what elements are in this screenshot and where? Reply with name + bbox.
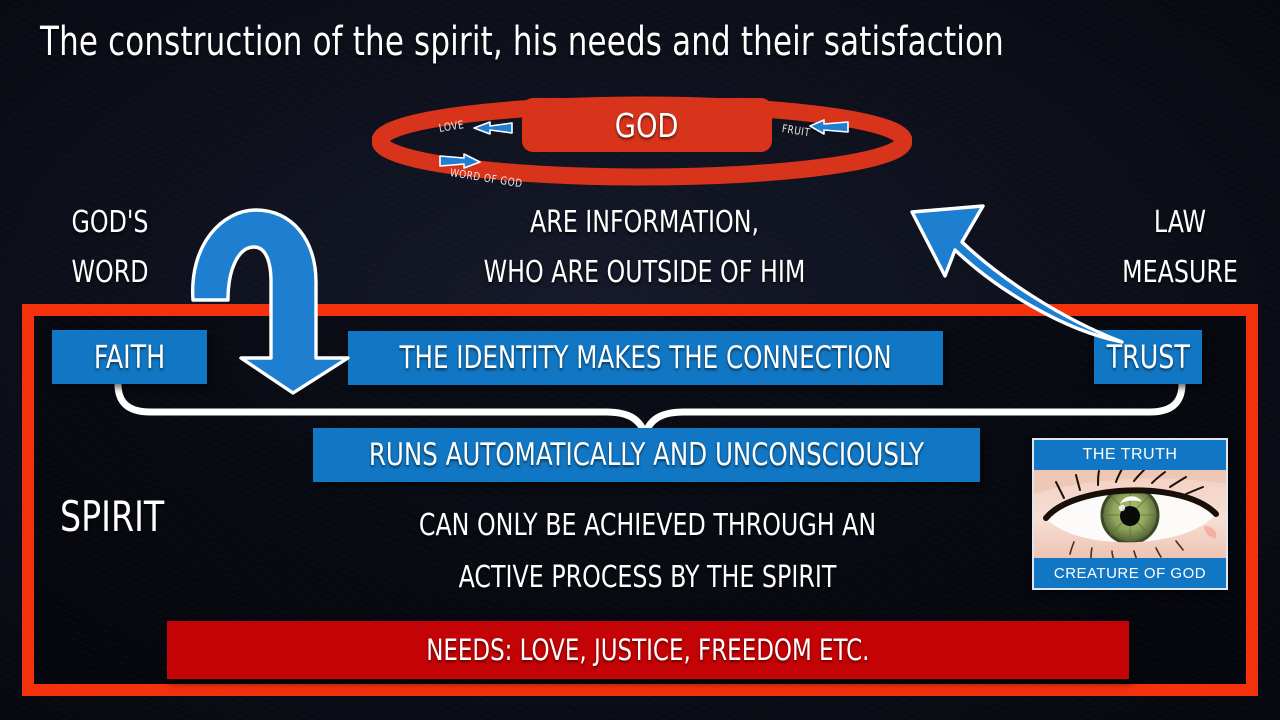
needs-bar: NEEDS: LOVE, JUSTICE, FREEDOM ETC. <box>167 621 1129 679</box>
caption-law-measure: LAW MEASURE <box>1105 198 1255 298</box>
caption-are-information: ARE INFORMATION, WHO ARE OUTSIDE OF HIM <box>414 198 876 298</box>
eye-photo <box>1034 468 1226 560</box>
eye-card-header-label: THE TRUTH <box>1083 446 1178 464</box>
trust-label: TRUST <box>1106 338 1189 376</box>
caption-gods-word: GOD'S WORD <box>44 198 176 298</box>
spirit-label: SPIRIT <box>60 492 164 541</box>
eye-card-header: THE TRUTH <box>1034 440 1226 470</box>
slide-canvas: The construction of the spirit, his need… <box>0 0 1280 720</box>
faith-label: FAITH <box>94 338 165 376</box>
needs-label: NEEDS: LOVE, JUSTICE, FREEDOM ETC. <box>426 633 869 667</box>
faith-box: FAITH <box>52 330 207 384</box>
eye-card-footer: CREATURE OF GOD <box>1034 558 1226 588</box>
trust-box: TRUST <box>1094 330 1202 384</box>
identity-box: THE IDENTITY MAKES THE CONNECTION <box>348 331 943 385</box>
runs-automatically-box: RUNS AUTOMATICALLY AND UNCONSCIOUSLY <box>313 428 980 482</box>
runs-automatically-label: RUNS AUTOMATICALLY AND UNCONSCIOUSLY <box>369 437 924 473</box>
identity-label: THE IDENTITY MAKES THE CONNECTION <box>399 340 891 376</box>
eye-card-footer-label: CREATURE OF GOD <box>1054 565 1206 582</box>
god-ring-group: GOD LOVE FRUIT WORD OF GOD <box>372 96 912 186</box>
god-box: GOD <box>522 98 772 152</box>
god-label: GOD <box>615 106 679 145</box>
achieved-text: CAN ONLY BE ACHIEVED THROUGH AN ACTIVE P… <box>368 500 927 604</box>
ring-arrow-love-icon <box>474 122 512 134</box>
page-title: The construction of the spirit, his need… <box>40 19 1004 65</box>
truth-eye-card: THE TRUTH <box>1032 438 1228 590</box>
